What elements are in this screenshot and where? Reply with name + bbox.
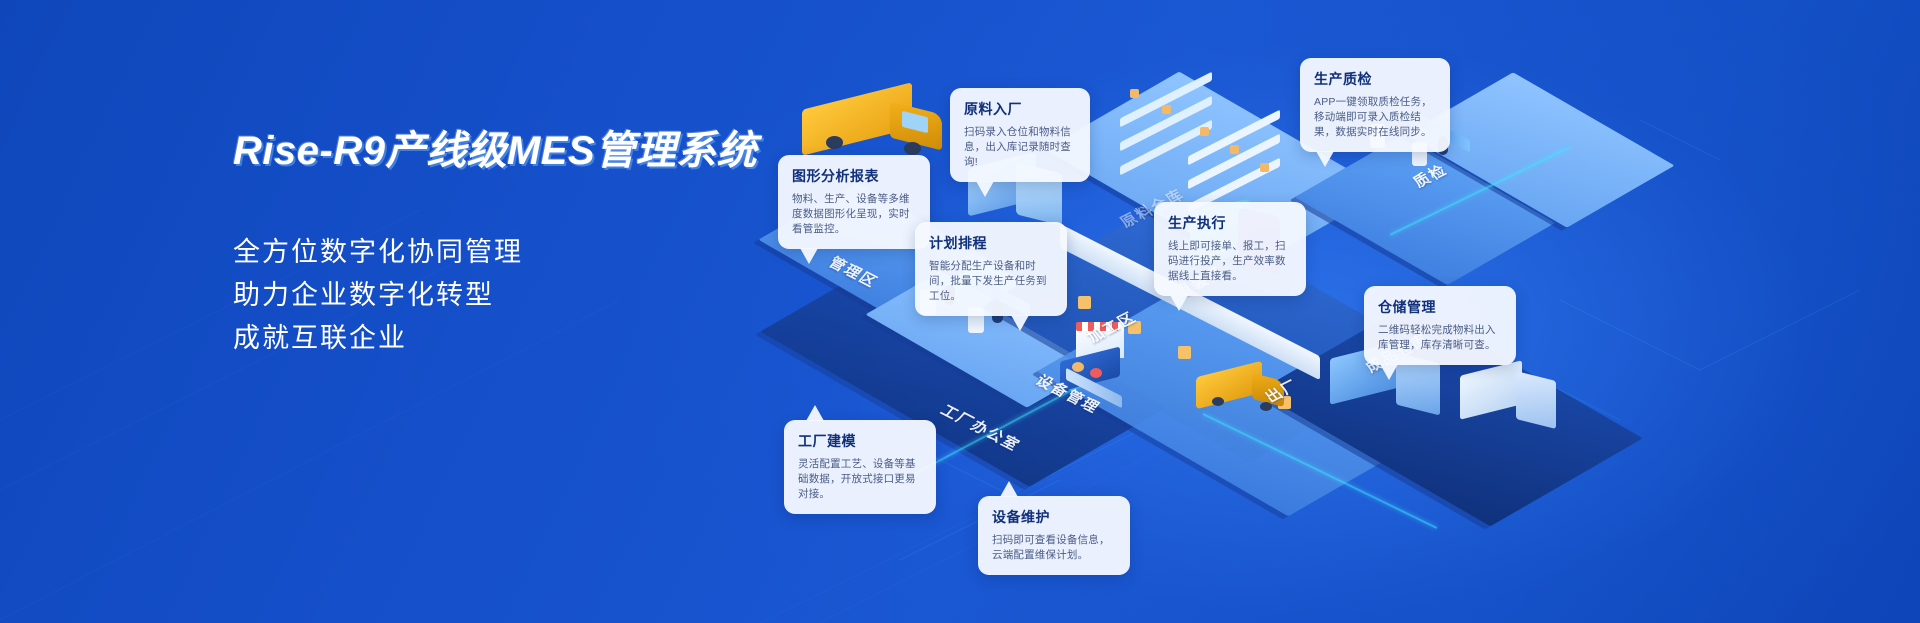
callout-tail <box>800 248 818 264</box>
callout-title: 计划排程 <box>929 233 1053 253</box>
callout-title: 生产质检 <box>1314 69 1436 89</box>
callout-production-quality-inspection[interactable]: 生产质检 APP一键领取质检任务，移动端即可录入质检结果，数据实时在线同步。 <box>1300 58 1450 152</box>
callout-title: 仓储管理 <box>1378 297 1502 317</box>
callout-title: 图形分析报表 <box>792 166 916 186</box>
callout-raw-material-inbound[interactable]: 原料入厂 扫码录入仓位和物料信息，出入库记录随时查询! <box>950 88 1090 182</box>
callout-body: 线上即可接单、报工，扫码进行投产，生产效率数据线上直接看。 <box>1168 239 1292 284</box>
callout-body: 物料、生产、设备等多维度数据图形化呈现，实时看管监控。 <box>792 192 916 237</box>
callout-tail <box>1000 481 1018 497</box>
callout-warehouse-management[interactable]: 仓储管理 二维码轻松完成物料出入库管理，库存清晰可查。 <box>1364 286 1516 365</box>
callout-tail <box>806 405 824 421</box>
callout-tail <box>1316 151 1334 167</box>
callout-title: 工厂建模 <box>798 431 922 451</box>
mes-hero-banner: Rise-R9产线级MES管理系统 全方位数字化协同管理 助力企业数字化转型 成… <box>0 0 1920 623</box>
callout-title: 原料入厂 <box>964 99 1076 119</box>
callout-tail <box>976 181 994 197</box>
callout-body: 扫码录入仓位和物料信息，出入库记录随时查询! <box>964 125 1076 170</box>
callout-title: 生产执行 <box>1168 213 1292 233</box>
callout-equipment-maintenance[interactable]: 设备维护 扫码即可查看设备信息，云端配置维保计划。 <box>978 496 1130 575</box>
callout-body: 智能分配生产设备和时间，批量下发生产任务到工位。 <box>929 259 1053 304</box>
callout-tail <box>1380 364 1398 380</box>
callout-tail <box>1011 315 1029 331</box>
delivery-truck <box>790 78 950 158</box>
callout-tail <box>1170 295 1188 311</box>
callout-title: 设备维护 <box>992 507 1116 527</box>
callout-body: APP一键领取质检任务，移动端即可录入质检结果，数据实时在线同步。 <box>1314 95 1436 140</box>
isometric-factory-illustration: 管理区 工厂办公室 原料仓库 加工区 组装区 质检 设备管理 成品仓库 出厂 图… <box>760 0 1920 623</box>
callout-body: 二维码轻松完成物料出入库管理，库存清晰可查。 <box>1378 323 1502 353</box>
callout-body: 扫码即可查看设备信息，云端配置维保计划。 <box>992 533 1116 563</box>
callout-body: 灵活配置工艺、设备等基础数据，开放式接口更易对接。 <box>798 457 922 502</box>
callout-plan-scheduling[interactable]: 计划排程 智能分配生产设备和时间，批量下发生产任务到工位。 <box>915 222 1067 316</box>
callout-factory-modeling[interactable]: 工厂建模 灵活配置工艺、设备等基础数据，开放式接口更易对接。 <box>784 420 936 514</box>
callout-graphic-analysis-report[interactable]: 图形分析报表 物料、生产、设备等多维度数据图形化呈现，实时看管监控。 <box>778 155 930 249</box>
callout-production-execution[interactable]: 生产执行 线上即可接单、报工，扫码进行投产，生产效率数据线上直接看。 <box>1154 202 1306 296</box>
